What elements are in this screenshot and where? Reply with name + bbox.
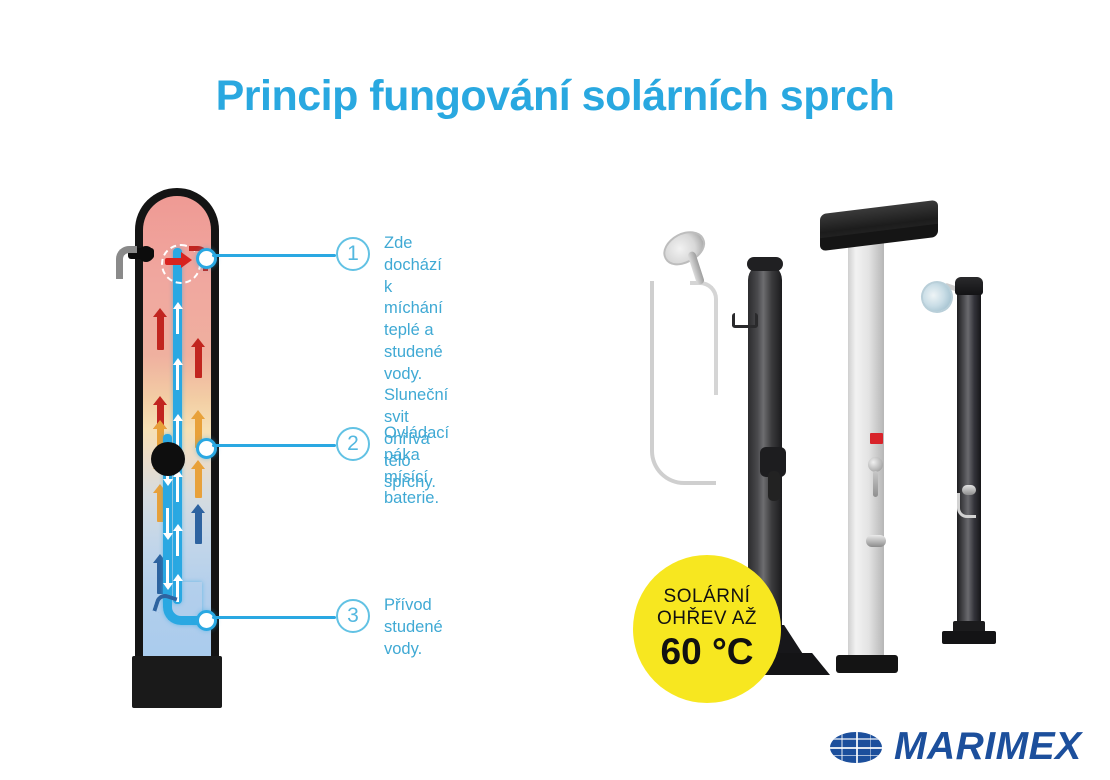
shower-spout: [116, 246, 137, 279]
mixer-valve-lever: [768, 471, 780, 501]
callout-anchor-3[interactable]: [196, 610, 217, 631]
mixer-lever-knob[interactable]: [151, 442, 185, 476]
globe-icon: [830, 732, 882, 763]
slim-shower-cap: [955, 277, 983, 295]
badge-temperature: 60 °C: [661, 632, 754, 673]
slim-shower-column: [957, 290, 981, 628]
flow-arrow-down-2: [166, 508, 169, 534]
page-title: Princip fungování solárních sprch: [0, 72, 1110, 121]
panel-valve-knob: [868, 457, 883, 472]
flow-arrow-up-4: [176, 476, 179, 502]
flow-arrow-up-3: [176, 420, 179, 446]
cold-arrow-right-1: [195, 512, 202, 544]
callout-line-2: [212, 444, 336, 447]
callout-2-number: 2: [336, 427, 370, 461]
shower-nozzle: [138, 246, 154, 262]
flow-arrow-up-2: [176, 364, 179, 390]
badge-line-1: SOLÁRNÍ: [664, 586, 751, 608]
warning-sticker: [870, 433, 883, 444]
panel-base-plate: [836, 655, 898, 673]
slim-valve-handle: [957, 493, 976, 518]
callout-line-3: [212, 616, 336, 619]
hot-arrow-right-1: [195, 346, 202, 378]
callout-2-text: Ovládací páka mísící baterie.: [384, 423, 449, 510]
panel-lower-fitting: [866, 535, 886, 547]
callout-anchor-2[interactable]: [196, 438, 217, 459]
callout-anchor-1[interactable]: [196, 248, 217, 269]
infographic-canvas: Princip fungování solárních sprch: [0, 0, 1110, 780]
flow-arrow-up-5: [176, 530, 179, 556]
brand-logo: MARIMEX: [830, 725, 1082, 769]
brand-name: MARIMEX: [894, 725, 1082, 769]
callout-1-number: 1: [336, 237, 370, 271]
panel-column: [848, 243, 884, 661]
warm-arrow-right-2: [195, 468, 202, 498]
callout-3-number: 3: [336, 599, 370, 633]
panel-valve-lever: [873, 471, 878, 497]
shower-hose-upper: [690, 281, 718, 395]
callout-3-text: Přívod studené vody.: [384, 595, 443, 660]
callout-line-1: [212, 254, 336, 257]
badge-line-2: OHŘEV AŽ: [657, 608, 757, 630]
hose-holder: [732, 313, 758, 328]
hot-arrow-left-1: [157, 316, 164, 350]
slim-shower-base-plate: [942, 631, 996, 644]
shower-column-cap: [747, 257, 783, 271]
solar-heating-badge: SOLÁRNÍ OHŘEV AŽ 60 °C: [633, 555, 781, 703]
flow-arrow-down-3: [166, 560, 169, 584]
fixed-shower-head-icon: [916, 276, 957, 317]
shower-base-block: [132, 656, 222, 708]
handheld-shower-head-icon: [658, 224, 711, 271]
flow-arrow-up-1: [176, 308, 179, 334]
